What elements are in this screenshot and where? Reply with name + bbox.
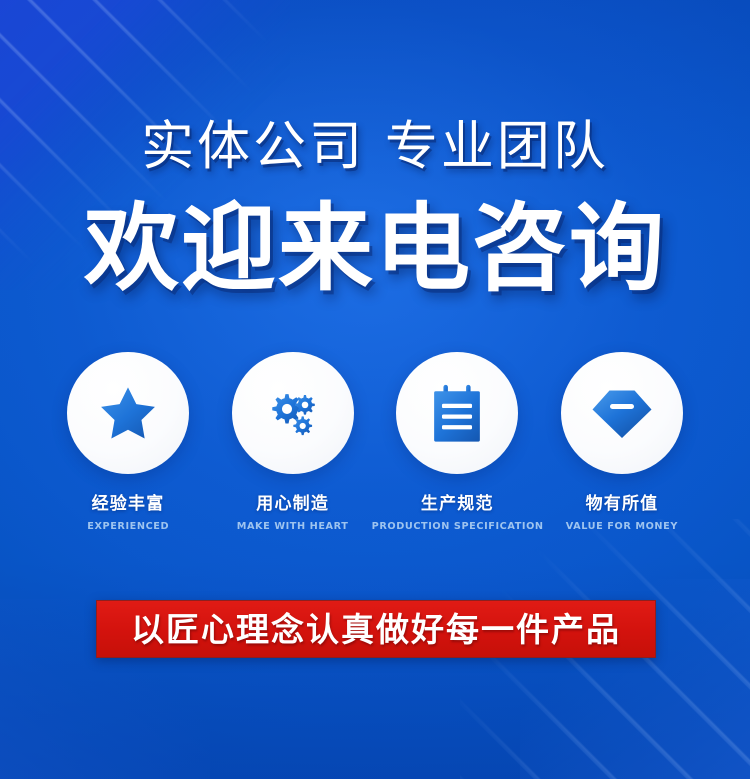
- feature-list: 经验丰富 EXPERIENCED: [52, 352, 698, 533]
- gears-icon: [262, 382, 324, 444]
- feature-title-cn: 经验丰富: [92, 494, 165, 514]
- feature-title-cn: 用心制造: [256, 494, 329, 514]
- diamond-icon: [590, 383, 654, 443]
- feature-title-cn: 生产规范: [421, 494, 494, 514]
- feature-title-en: PRODUCTION SPECIFICATION: [371, 521, 543, 533]
- feature-title-en: MAKE WITH HEART: [237, 521, 349, 533]
- star-icon: [97, 382, 159, 444]
- feature-icon-circle: [396, 352, 518, 474]
- feature-icon-circle: [232, 352, 354, 474]
- poster-content: 实体公司 专业团队 欢迎来电咨询: [0, 0, 750, 779]
- feature-icon-circle: [561, 352, 683, 474]
- poster-headline: 欢迎来电咨询: [0, 196, 750, 302]
- clipboard-icon: [428, 382, 486, 444]
- feature-item-make-with-heart: 用心制造 MAKE WITH HEART: [217, 352, 369, 533]
- slogan-banner: 以匠心理念认真做好每一件产品: [96, 600, 656, 658]
- feature-icon-circle: [67, 352, 189, 474]
- poster-subtitle: 实体公司 专业团队: [0, 118, 750, 176]
- feature-title-en: VALUE FOR MONEY: [566, 521, 678, 533]
- feature-item-production-specification: 生产规范 PRODUCTION SPECIFICATION: [381, 352, 533, 533]
- slogan-text: 以匠心理念认真做好每一件产品: [131, 613, 621, 646]
- promo-poster: 实体公司 专业团队 欢迎来电咨询: [0, 0, 750, 779]
- feature-item-experienced: 经验丰富 EXPERIENCED: [52, 352, 204, 533]
- feature-title-en: EXPERIENCED: [87, 521, 169, 533]
- feature-item-value-for-money: 物有所值 VALUE FOR MONEY: [546, 352, 698, 533]
- feature-title-cn: 物有所值: [586, 494, 659, 514]
